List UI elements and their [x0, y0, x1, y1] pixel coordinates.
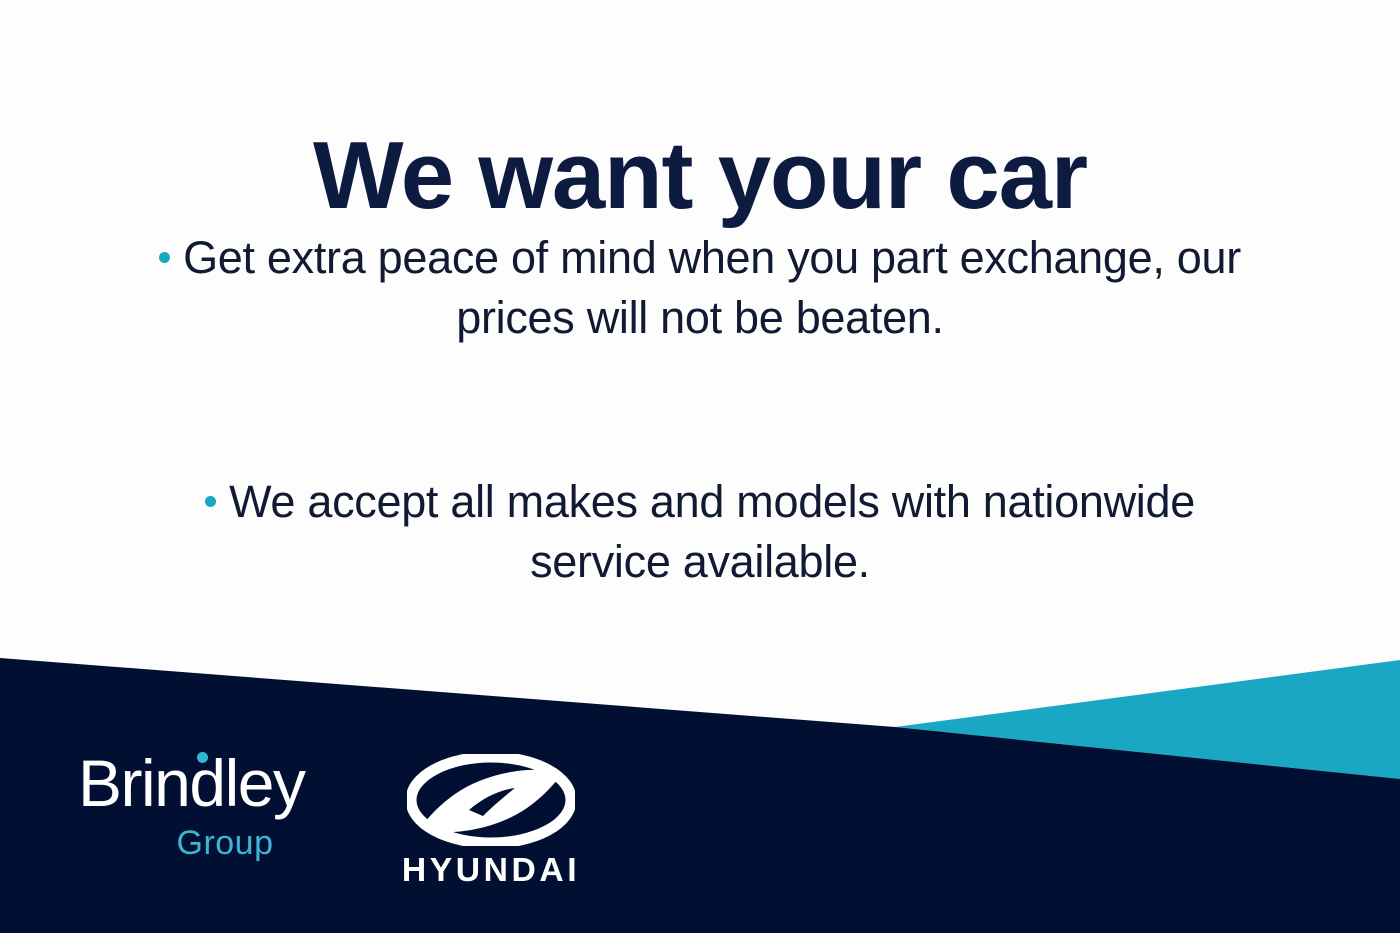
brindley-group-logo: Brindley Group	[78, 748, 338, 862]
brindley-i-dot-icon	[197, 752, 208, 763]
bullet-text: We accept all makes and models with nati…	[229, 476, 1195, 587]
list-item: Get extra peace of mind when you part ex…	[140, 228, 1260, 348]
bullet-list: Get extra peace of mind when you part ex…	[140, 228, 1260, 592]
bullet-dot-icon	[205, 496, 216, 507]
page-title: We want your car	[0, 126, 1400, 226]
bullet-dot-icon	[159, 252, 170, 263]
hyundai-emblem-icon	[407, 754, 575, 846]
hyundai-wordmark: HYUNDAI	[384, 852, 598, 888]
bullet-text: Get extra peace of mind when you part ex…	[183, 232, 1241, 343]
brindley-group-descriptor: Group	[78, 824, 338, 862]
advertisement-canvas: We want your car Get extra peace of mind…	[0, 0, 1400, 933]
hyundai-logo: HYUNDAI	[386, 748, 596, 888]
brindley-wordmark: Brindley	[78, 748, 338, 818]
list-item: We accept all makes and models with nati…	[140, 472, 1260, 592]
teal-diagonal-wedge	[895, 660, 1400, 779]
logo-lockup: Brindley Group HYUNDAI	[78, 748, 596, 888]
